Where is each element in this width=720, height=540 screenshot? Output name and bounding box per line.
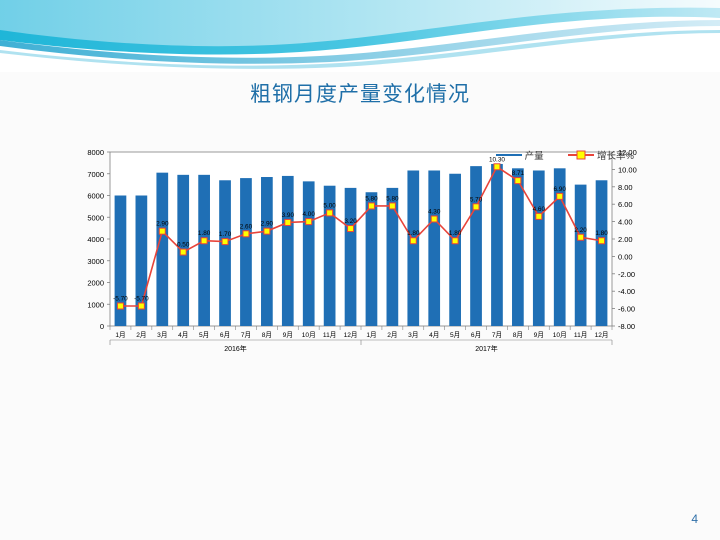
svg-text:4.00: 4.00 — [302, 211, 315, 218]
svg-text:-4.00: -4.00 — [618, 287, 635, 296]
svg-text:11月: 11月 — [323, 331, 336, 339]
header-decoration — [0, 0, 720, 72]
svg-text:4.00: 4.00 — [618, 218, 633, 227]
svg-text:7月: 7月 — [241, 331, 251, 339]
chart-container: 产量 增长率% 01000200030004000500060007000800… — [66, 140, 656, 400]
svg-text:2.90: 2.90 — [261, 221, 274, 228]
svg-text:2.00: 2.00 — [618, 235, 633, 244]
svg-text:5.70: 5.70 — [470, 196, 483, 203]
svg-text:7月: 7月 — [492, 331, 502, 339]
svg-text:8月: 8月 — [513, 331, 523, 339]
page-number: 4 — [691, 512, 698, 526]
svg-text:8000: 8000 — [87, 148, 104, 157]
legend-item-0: 产量 — [496, 148, 544, 162]
svg-text:4月: 4月 — [429, 331, 439, 339]
svg-text:4月: 4月 — [178, 331, 188, 339]
svg-text:8月: 8月 — [262, 331, 272, 339]
svg-text:10月: 10月 — [553, 331, 567, 339]
svg-text:2月: 2月 — [387, 331, 397, 339]
svg-text:-8.00: -8.00 — [618, 322, 635, 331]
svg-text:6000: 6000 — [87, 192, 104, 201]
svg-text:0.50: 0.50 — [177, 242, 190, 249]
svg-text:1.70: 1.70 — [219, 231, 232, 238]
svg-text:4000: 4000 — [87, 235, 104, 244]
svg-text:5.80: 5.80 — [365, 195, 378, 202]
legend-label-1: 增长率% — [597, 151, 634, 162]
svg-text:0: 0 — [100, 322, 104, 331]
legend-label-0: 产量 — [525, 151, 544, 162]
svg-text:6月: 6月 — [471, 331, 481, 339]
slide: 粗钢月度产量变化情况 产量 增长率% 010002000300040005000… — [0, 0, 720, 540]
svg-text:1.80: 1.80 — [407, 230, 420, 237]
svg-text:9月: 9月 — [534, 331, 544, 339]
svg-text:-5.70: -5.70 — [113, 295, 128, 302]
svg-text:-5.70: -5.70 — [134, 295, 149, 302]
svg-text:3月: 3月 — [408, 331, 418, 339]
svg-text:3.20: 3.20 — [344, 218, 357, 225]
svg-text:8.00: 8.00 — [618, 183, 633, 192]
svg-text:5.00: 5.00 — [323, 202, 336, 209]
svg-text:2月: 2月 — [136, 331, 146, 339]
svg-text:2000: 2000 — [87, 279, 104, 288]
svg-text:2.90: 2.90 — [156, 221, 169, 228]
legend-item-1: 增长率% — [568, 148, 634, 162]
svg-text:10.00: 10.00 — [618, 165, 637, 174]
svg-text:12月: 12月 — [344, 331, 358, 339]
svg-text:10月: 10月 — [302, 331, 316, 339]
svg-text:9月: 9月 — [283, 331, 293, 339]
chart-legend: 产量 增长率% — [496, 148, 656, 162]
svg-text:2.60: 2.60 — [240, 223, 253, 230]
svg-text:5月: 5月 — [199, 331, 209, 339]
svg-text:6月: 6月 — [220, 331, 230, 339]
svg-text:6.90: 6.90 — [553, 186, 566, 193]
svg-text:-2.00: -2.00 — [618, 270, 635, 279]
svg-text:12月: 12月 — [595, 331, 609, 339]
svg-text:4.60: 4.60 — [533, 206, 546, 213]
svg-text:2017年: 2017年 — [475, 344, 498, 353]
svg-text:5.80: 5.80 — [386, 195, 399, 202]
svg-text:5000: 5000 — [87, 213, 104, 222]
svg-text:4.30: 4.30 — [428, 208, 441, 215]
svg-text:8.71: 8.71 — [512, 170, 525, 177]
svg-text:1000: 1000 — [87, 300, 104, 309]
svg-text:6.00: 6.00 — [618, 200, 633, 209]
page-title: 粗钢月度产量变化情况 — [0, 78, 720, 108]
svg-text:3.90: 3.90 — [282, 212, 295, 219]
svg-text:11月: 11月 — [574, 331, 587, 339]
svg-text:3月: 3月 — [157, 331, 167, 339]
svg-text:1.80: 1.80 — [595, 230, 608, 237]
svg-text:1月: 1月 — [366, 331, 376, 339]
svg-text:3000: 3000 — [87, 257, 104, 266]
chart-plot: 010002000300040005000600070008000-8.00-6… — [66, 140, 656, 390]
svg-text:1.80: 1.80 — [449, 230, 462, 237]
svg-text:0.00: 0.00 — [618, 252, 633, 261]
svg-text:5月: 5月 — [450, 331, 460, 339]
svg-text:1.80: 1.80 — [198, 230, 211, 237]
svg-text:2016年: 2016年 — [224, 344, 247, 353]
svg-text:-6.00: -6.00 — [618, 305, 635, 314]
svg-text:7000: 7000 — [87, 170, 104, 179]
svg-text:1月: 1月 — [115, 331, 125, 339]
svg-text:2.20: 2.20 — [574, 227, 587, 234]
